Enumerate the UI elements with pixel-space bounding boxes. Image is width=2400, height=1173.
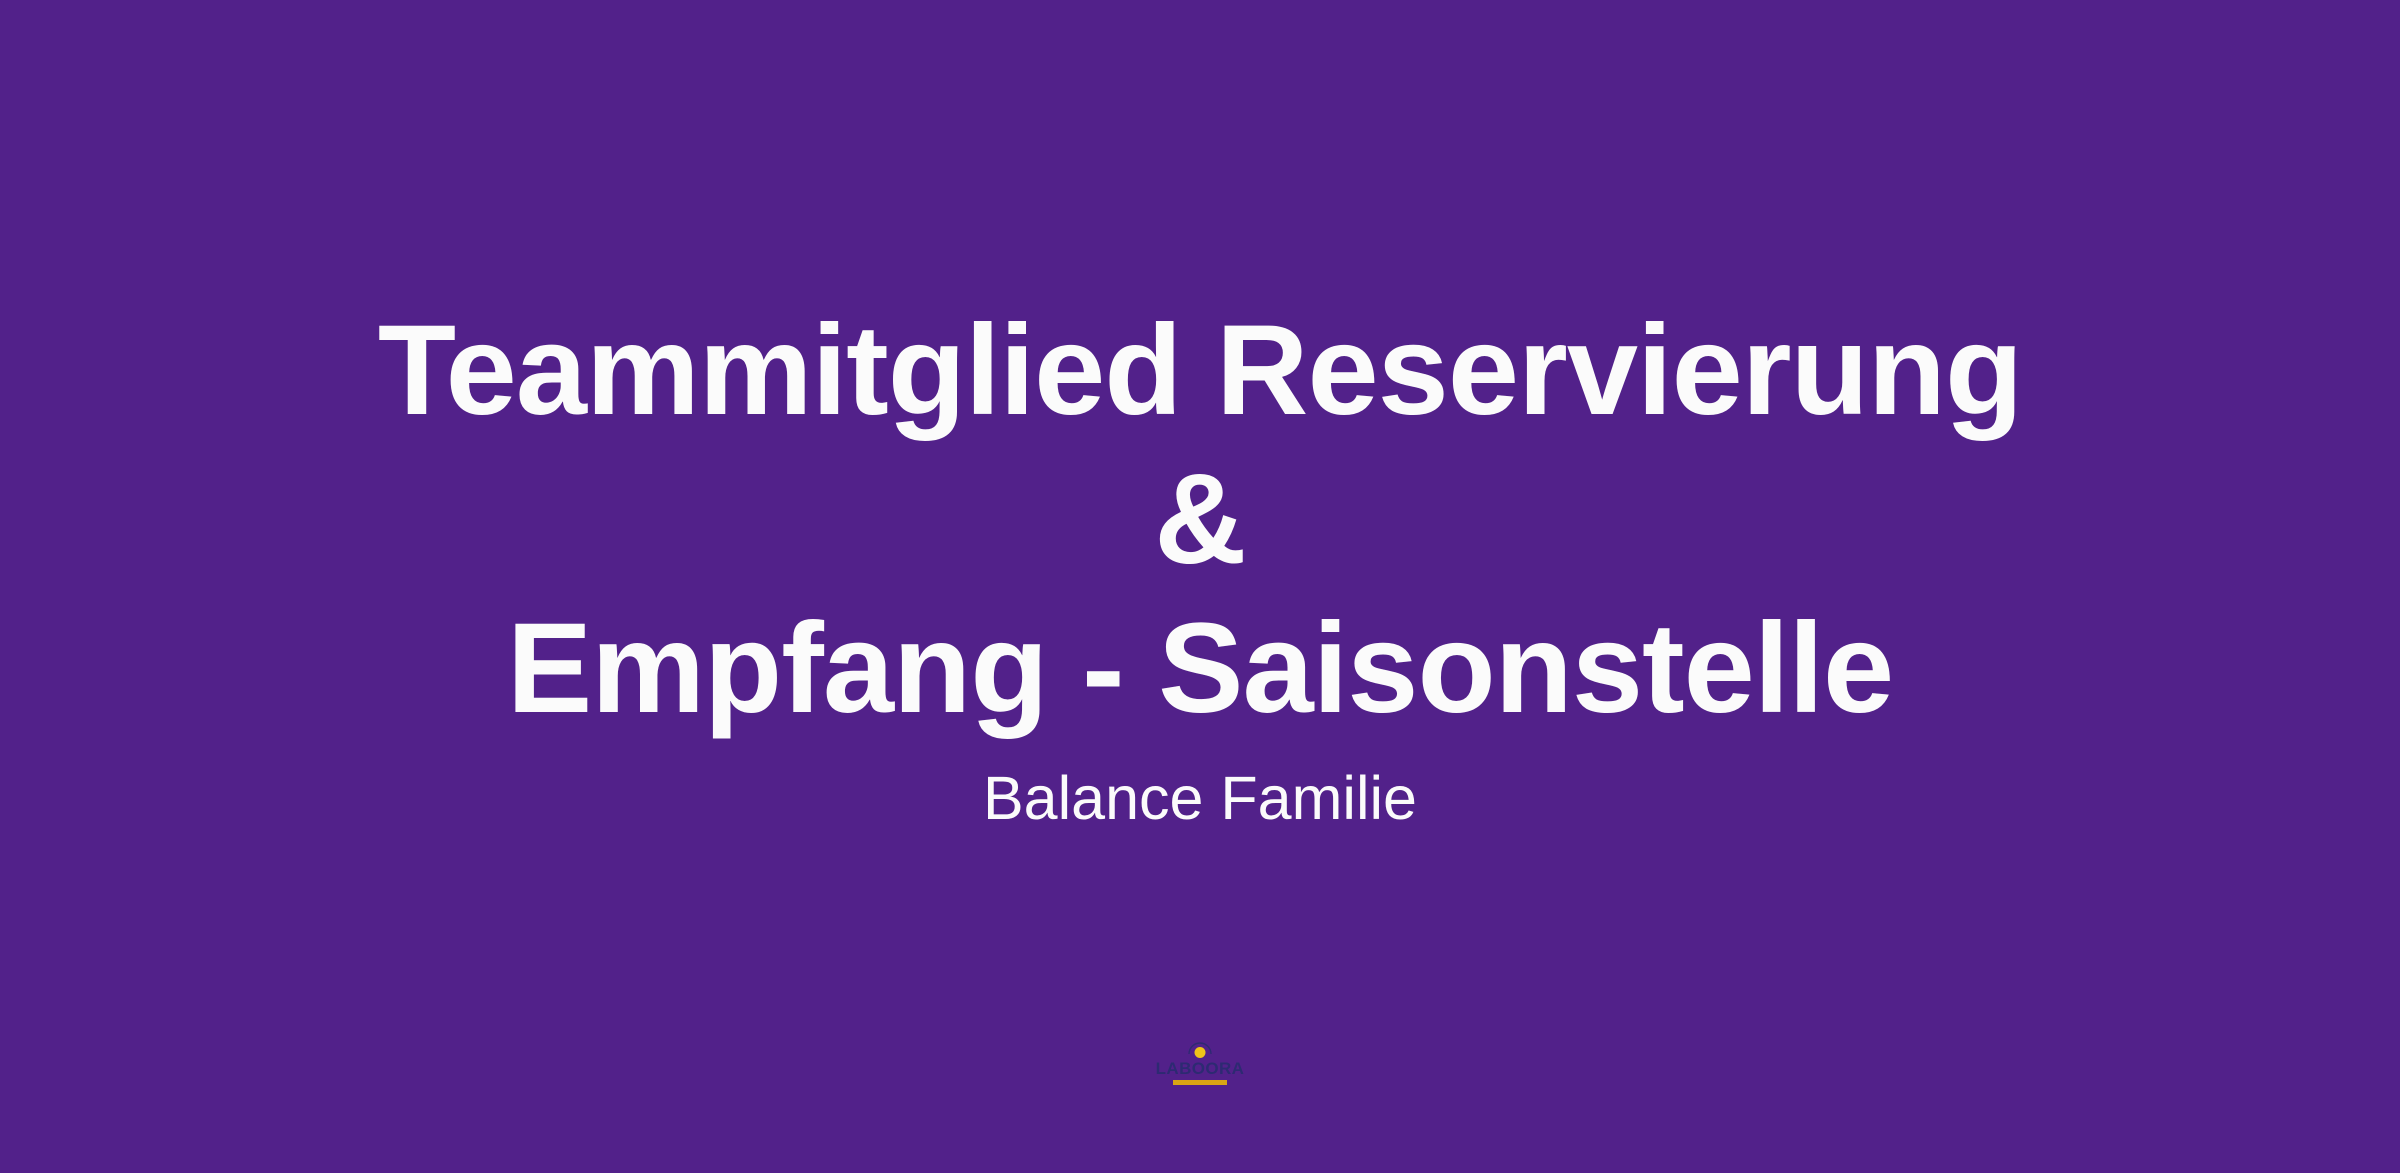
page-subtitle: Balance Familie [350,743,2050,837]
sun-dot-icon [1195,1047,1206,1058]
page-title: Teammitglied Reservierung & Empfang - Sa… [350,296,2050,743]
slide-content: Teammitglied Reservierung & Empfang - Sa… [0,0,2400,837]
logo-underline-bar [1173,1080,1227,1085]
logo-mark [1145,1038,1255,1062]
footer-logo: LABOORA [1145,1038,1255,1090]
slide-canvas: Teammitglied Reservierung & Empfang - Sa… [0,0,2400,1173]
logo-wordmark: LABOORA [1156,1060,1245,1077]
